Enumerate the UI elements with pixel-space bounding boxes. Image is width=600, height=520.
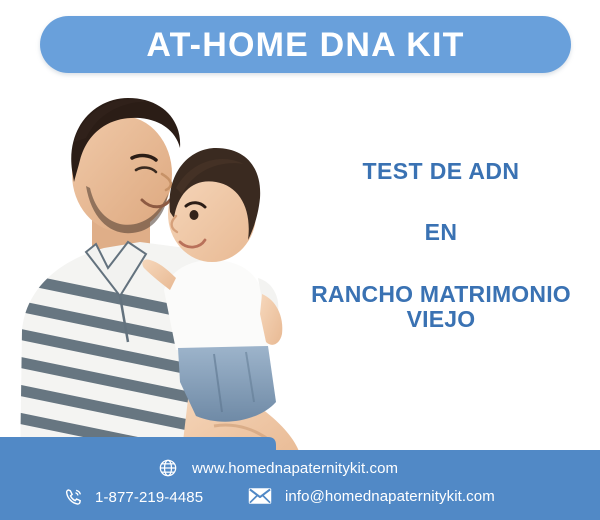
promo-card: AT-HOME DNA KIT <box>0 0 600 520</box>
envelope-icon <box>248 487 272 505</box>
headline-line-location: RANCHO MATRIMONIO VIEJO <box>288 282 594 332</box>
headline-block: TEST DE ADN EN RANCHO MATRIMONIO VIEJO <box>288 160 594 332</box>
phone-icon <box>64 487 84 507</box>
footer-contact-list: www.homednapaternitykit.com 1-877-219-44… <box>0 430 600 520</box>
footer-phone-label: 1-877-219-4485 <box>95 489 203 506</box>
footer-email-row[interactable]: info@homednapaternitykit.com <box>248 487 495 505</box>
father-and-child-photo <box>0 82 320 467</box>
banner-title: AT-HOME DNA KIT <box>146 28 464 62</box>
footer-phone-row[interactable]: 1-877-219-4485 <box>64 487 203 507</box>
footer-email-label: info@homednapaternitykit.com <box>285 488 495 505</box>
headline-line-service: TEST DE ADN <box>288 160 594 183</box>
footer-bar: www.homednapaternitykit.com 1-877-219-44… <box>0 430 600 520</box>
footer-website-label: www.homednapaternitykit.com <box>192 460 398 477</box>
footer-website-row[interactable]: www.homednapaternitykit.com <box>158 458 398 478</box>
banner-pill: AT-HOME DNA KIT <box>40 16 571 73</box>
globe-icon <box>158 458 178 478</box>
headline-line-preposition: EN <box>288 221 594 244</box>
